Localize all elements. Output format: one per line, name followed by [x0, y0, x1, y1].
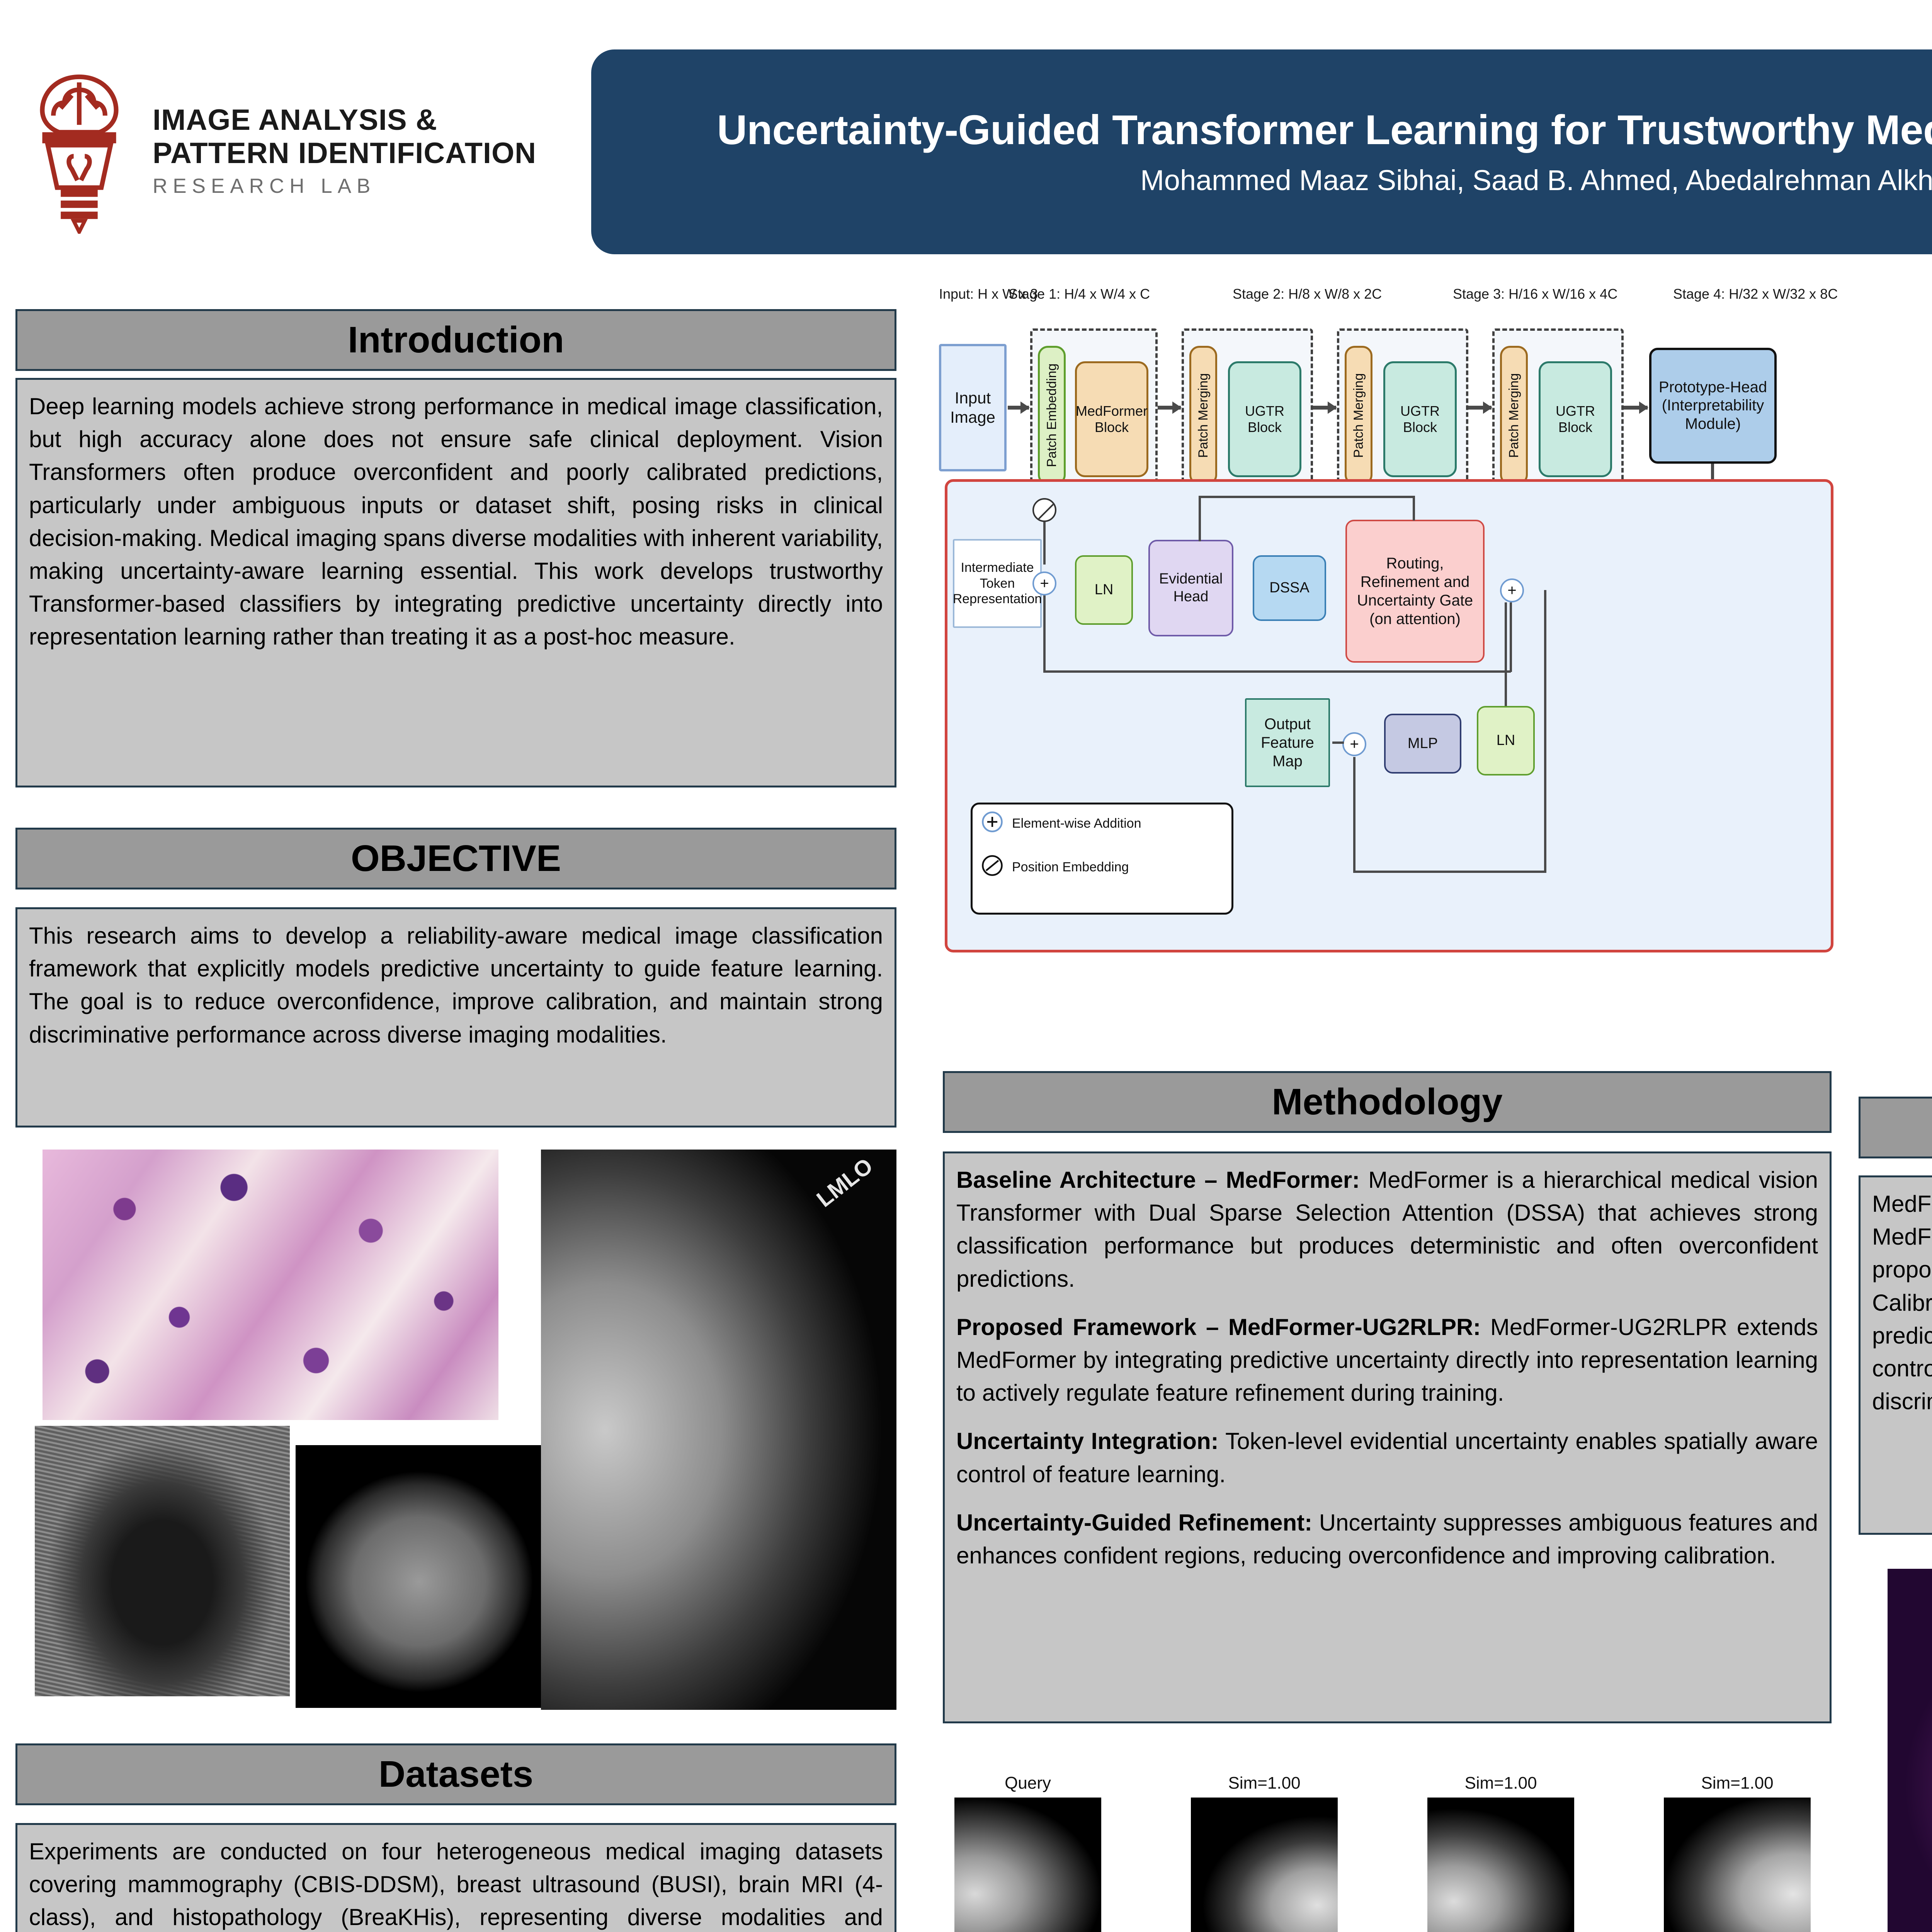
section-header-datasets: Datasets — [15, 1743, 896, 1805]
lab-logo-line3: RESEARCH LAB — [153, 174, 536, 198]
prototype-head-block: Prototype-Head (Interpretability Module) — [1649, 348, 1777, 464]
mlp-block: MLP — [1384, 714, 1461, 774]
prototype-label-1: Sim=1.00 — [1191, 1774, 1338, 1793]
lab-logo: IMAGE ANALYSIS & PATTERN IDENTIFICATION … — [21, 54, 574, 247]
patch-embedding-block-1: Patch Embedding — [1038, 346, 1066, 485]
position-embedding-circle-icon — [981, 854, 1003, 880]
legend-label-addition: Element-wise Addition — [1012, 816, 1141, 831]
dssa-block: DSSA — [1253, 555, 1326, 621]
patch-merging-block-4: Patch Merging — [1500, 346, 1528, 485]
introduction-heading: Introduction — [348, 319, 564, 361]
methodology-lead-2: Proposed Framework – MedFormer-UG2RLPR: — [956, 1314, 1481, 1340]
wire-gate-top-left — [1199, 496, 1201, 541]
methodology-heading: Methodology — [1272, 1081, 1502, 1123]
section-header-introduction: Introduction — [15, 309, 896, 371]
stage-label-3: Stage 3: H/16 x W/16 x 4C — [1453, 286, 1617, 302]
intermediate-token-representation-block: Intermediate Token Representation — [953, 539, 1042, 628]
position-embedding-icon — [1032, 498, 1056, 522]
prototype-label-3: Sim=1.00 — [1664, 1774, 1811, 1793]
arrow-input-to-stage1 — [1008, 406, 1029, 410]
input-image-block: Input Image — [939, 344, 1007, 471]
objective-heading: OBJECTIVE — [351, 837, 561, 880]
lightbulb-brain-icon — [21, 68, 137, 234]
prototype-item: Sim=1.00 — [1427, 1774, 1574, 1932]
stage-label-2: Stage 2: H/8 x W/8 x 2C — [1233, 286, 1382, 302]
add-node-2: + — [1500, 578, 1524, 602]
wire-add2-to-ln2 — [1505, 602, 1507, 706]
patch-merging-block-3: Patch Merging — [1345, 346, 1372, 485]
add-node-1: + — [1032, 571, 1056, 595]
poster-header: Uncertainty-Guided Transformer Learning … — [591, 49, 1932, 254]
datasets-text: Experiments are conducted on four hetero… — [29, 1835, 883, 1932]
results-text: MedFormer-UG2RLPR consistently improves … — [1872, 1187, 1932, 1418]
mammogram-lmlo-image — [541, 1150, 896, 1710]
section-header-objective: OBJECTIVE — [15, 828, 896, 889]
brain-mri-image — [296, 1445, 543, 1708]
histopathology-image — [43, 1150, 498, 1420]
lab-logo-line2: PATTERN IDENTIFICATION — [153, 137, 536, 170]
section-body-introduction: Deep learning models achieve strong perf… — [15, 378, 896, 787]
plus-circle-icon — [981, 811, 1003, 837]
wire-add3-to-output — [1332, 742, 1344, 744]
uncertainty-maps-figure: R — [1888, 1569, 1932, 1932]
arrow-stage4-to-head — [1624, 406, 1648, 410]
wire-gate-top-right — [1413, 496, 1415, 520]
ugtr-block-detail-card: Intermediate Token Representation + LN E… — [945, 479, 1833, 952]
methodology-lead-1: Baseline Architecture – MedFormer: — [956, 1167, 1360, 1193]
legend-row-addition: Element-wise Addition — [981, 811, 1223, 837]
ugtr-block-3: UGTR Block — [1383, 361, 1457, 477]
prototype-image-query — [954, 1798, 1101, 1932]
section-body-datasets: Experiments are conducted on four hetero… — [15, 1823, 896, 1932]
wire-mlp-residual-across — [1353, 871, 1546, 873]
section-body-results: MedFormer-UG2RLPR consistently improves … — [1859, 1175, 1932, 1535]
patch-merging-block-2: Patch Merging — [1189, 346, 1217, 485]
wire-residual-down — [1043, 595, 1046, 673]
prototype-image-1 — [1191, 1798, 1338, 1932]
prototype-item: Query — [954, 1774, 1101, 1932]
methodology-paragraph-3: Uncertainty Integration: Token-level evi… — [956, 1425, 1818, 1490]
evidential-head-block: Evidential Head — [1148, 540, 1233, 636]
arrow-stage3-to-stage4 — [1468, 406, 1492, 410]
breast-ultrasound-image — [35, 1426, 290, 1696]
section-body-methodology: Baseline Architecture – MedFormer: MedFo… — [943, 1151, 1832, 1723]
author-list: Mohammed Maaz Sibhai, Saad B. Ahmed, Abe… — [1140, 164, 1932, 197]
arrow-stage1-to-stage2 — [1158, 406, 1181, 410]
output-feature-map-block: Output Feature Map — [1245, 698, 1330, 787]
prototype-similarity-strip: Query Sim=1.00 Sim=1.00 Sim=1.00 — [954, 1774, 1824, 1932]
prototype-item: Sim=1.00 — [1191, 1774, 1338, 1932]
legend-row-position-embedding: Position Embedding — [981, 854, 1223, 880]
prototype-item: Sim=1.00 — [1664, 1774, 1811, 1932]
prototype-image-3 — [1664, 1798, 1811, 1932]
legend-label-position-embedding: Position Embedding — [1012, 860, 1129, 875]
stage-label-4: Stage 4: H/32 x W/32 x 8C — [1673, 286, 1838, 302]
diagram-legend: Element-wise Addition Position Embedding — [971, 803, 1233, 915]
prototype-label-2: Sim=1.00 — [1427, 1774, 1574, 1793]
lab-logo-line1: IMAGE ANALYSIS & — [153, 104, 536, 136]
add-node-3: + — [1342, 732, 1366, 756]
layernorm-block-2: LN — [1477, 706, 1535, 776]
arrow-stage2-to-stage3 — [1313, 406, 1336, 410]
uncertainty-map-left — [1888, 1569, 1932, 1932]
section-body-objective: This research aims to develop a reliabil… — [15, 907, 896, 1128]
prototype-image-2 — [1427, 1798, 1574, 1932]
methodology-paragraph-4: Uncertainty-Guided Refinement: Uncertain… — [956, 1506, 1818, 1572]
wire-residual-across — [1043, 670, 1511, 673]
wire-mlp-residual-down — [1353, 757, 1355, 873]
ugtr-block-2: UGTR Block — [1228, 361, 1301, 477]
methodology-lead-4: Uncertainty-Guided Refinement: — [956, 1510, 1312, 1536]
uncertainty-gate-block: Routing, Refinement and Uncertainty Gate… — [1345, 520, 1485, 663]
wire-gate-top — [1199, 496, 1415, 498]
medformer-block: MedFormer Block — [1075, 361, 1148, 477]
wire-pe-to-add — [1043, 522, 1046, 565]
prototype-label-0: Query — [954, 1774, 1101, 1793]
section-header-methodology: Methodology — [943, 1071, 1832, 1133]
ugtr-block-4: UGTR Block — [1539, 361, 1612, 477]
section-header-results: Results/Discussion — [1859, 1097, 1932, 1158]
methodology-lead-3: Uncertainty Integration: — [956, 1428, 1219, 1454]
methodology-paragraph-1: Baseline Architecture – MedFormer: MedFo… — [956, 1163, 1818, 1295]
methodology-paragraph-2: Proposed Framework – MedFormer-UG2RLPR: … — [956, 1311, 1818, 1410]
wire-mlp-residual-right — [1544, 590, 1546, 873]
wire-residual-up — [1510, 602, 1512, 672]
datasets-heading: Datasets — [379, 1753, 533, 1796]
layernorm-block-1: LN — [1075, 555, 1133, 625]
objective-text: This research aims to develop a reliabil… — [29, 919, 883, 1051]
introduction-text: Deep learning models achieve strong perf… — [29, 390, 883, 653]
stage-label-1: Stage 1: H/4 x W/4 x C — [1009, 286, 1150, 302]
poster-canvas: IMAGE ANALYSIS & PATTERN IDENTIFICATION … — [0, 0, 1932, 1932]
page-title: Uncertainty-Guided Transformer Learning … — [717, 107, 1932, 153]
